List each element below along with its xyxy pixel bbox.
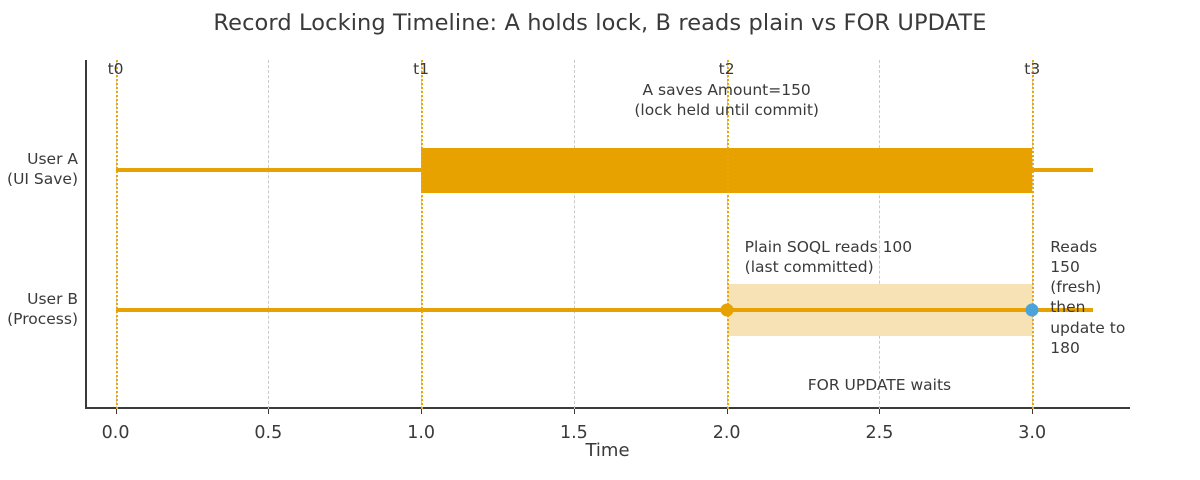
gridline-2.5 — [879, 60, 880, 409]
event-line-t1 — [421, 60, 423, 409]
marker-b-plain-read — [720, 304, 733, 317]
y-label-name-user-b: User B — [7, 290, 78, 310]
annotation-plain-soql-note: Plain SOQL reads 100 (last committed) — [745, 237, 913, 277]
event-line-t0 — [116, 60, 118, 409]
annotation-for-update-waits-note: FOR UPDATE waits — [808, 375, 951, 395]
y-label-sub-user-b: (Process) — [7, 310, 78, 330]
event-label-t2: t2 — [719, 60, 735, 78]
y-axis-label-user-b: User B(Process) — [7, 290, 78, 330]
annotation-a-saves-note: A saves Amount=150 (lock held until comm… — [634, 80, 819, 120]
timeline-chart-figure: Record Locking Timeline: A holds lock, B… — [0, 0, 1200, 480]
x-tick-mark-2.0 — [727, 409, 728, 414]
annotation-fresh-read-note: Reads 150 (fresh) then update to 180 — [1050, 237, 1130, 358]
x-tick-mark-2.5 — [879, 409, 880, 414]
lane-line-user-b — [116, 308, 1094, 312]
gridline-0.5 — [268, 60, 269, 409]
y-axis-label-user-a: User A(UI Save) — [7, 150, 78, 190]
y-label-sub-user-a: (UI Save) — [7, 170, 78, 190]
gridline-1.5 — [574, 60, 575, 409]
event-label-t0: t0 — [108, 60, 124, 78]
x-tick-mark-1.5 — [574, 409, 575, 414]
x-tick-mark-0.0 — [116, 409, 117, 414]
marker-b-fresh-read — [1026, 304, 1039, 317]
y-axis-spine — [85, 60, 87, 409]
x-tick-mark-1.0 — [421, 409, 422, 414]
plot-area: 0.00.51.01.52.02.53.0 A saves Amount=150… — [85, 60, 1130, 409]
y-label-name-user-a: User A — [7, 150, 78, 170]
event-line-t3 — [1032, 60, 1034, 409]
x-tick-mark-0.5 — [268, 409, 269, 414]
x-axis-label: Time — [85, 440, 1130, 461]
x-axis-spine — [85, 407, 1130, 409]
event-label-t1: t1 — [413, 60, 429, 78]
chart-title: Record Locking Timeline: A holds lock, B… — [0, 10, 1200, 36]
x-tick-mark-3.0 — [1032, 409, 1033, 414]
event-label-t3: t3 — [1024, 60, 1040, 78]
